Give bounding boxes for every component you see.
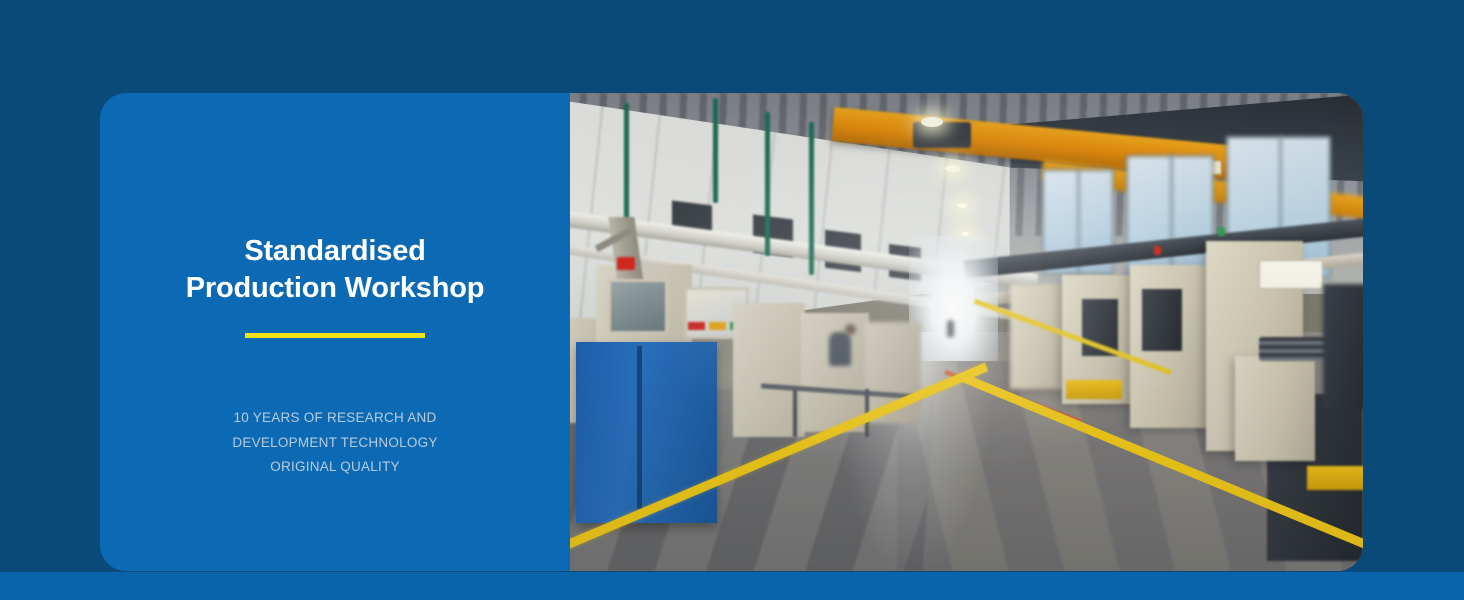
subtitle-line-3: ORIGINAL QUALITY [135,455,535,480]
promo-banner: Standardised Production Workshop 10 YEAR… [0,0,1464,600]
page-title: Standardised Production Workshop [125,233,545,307]
text-card: Standardised Production Workshop 10 YEAR… [100,93,570,571]
photo-depth-wash [560,93,1363,571]
page-subtitle: 10 YEARS OF RESEARCH AND DEVELOPMENT TEC… [135,406,535,480]
bottom-accent-band [0,572,1464,600]
subtitle-line-2: DEVELOPMENT TECHNOLOGY [135,431,535,456]
workshop-photo-frame [560,93,1363,571]
title-line-1: Standardised [125,233,545,270]
workshop-photo [560,93,1363,571]
title-line-2: Production Workshop [125,270,545,307]
title-divider [245,333,425,338]
subtitle-line-1: 10 YEARS OF RESEARCH AND [135,406,535,431]
